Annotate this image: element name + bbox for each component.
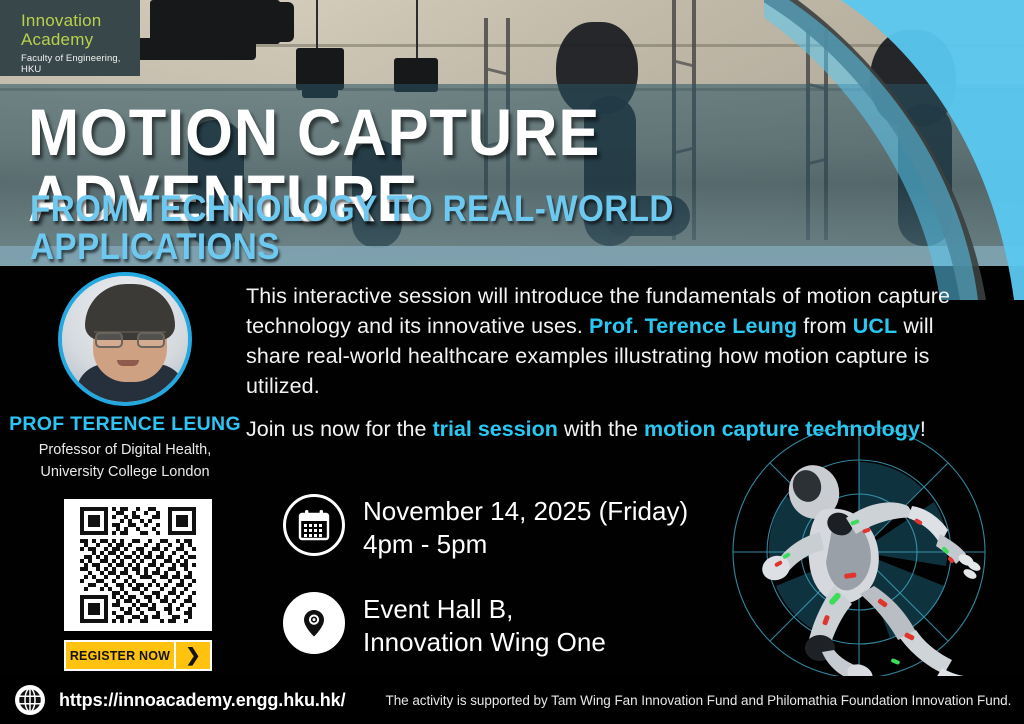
description-part-2: from (797, 314, 853, 338)
speaker-avatar (58, 272, 192, 406)
logo-line-1: Innovation (21, 11, 140, 30)
speaker-name: PROF TERENCE LEUNG (0, 413, 250, 436)
event-venue-row: Event Hall B, Innovation Wing One (283, 592, 606, 659)
venue-line-2: Innovation Wing One (363, 627, 606, 657)
event-date-row: November 14, 2025 (Friday) 4pm - 5pm (283, 494, 688, 561)
location-pin-icon (283, 592, 345, 654)
venue-line-1: Event Hall B, (363, 594, 513, 624)
cta-part-2: with the (558, 417, 644, 441)
event-poster: Innovation Academy Faculty of Engineerin… (0, 0, 1024, 724)
chevron-right-icon: ❯ (176, 642, 210, 669)
qr-code-image (72, 507, 204, 623)
event-venue-text: Event Hall B, Innovation Wing One (363, 592, 606, 659)
globe-icon (14, 684, 46, 716)
location-pin-icon-glyph (296, 605, 332, 641)
cta-highlight-mocap-tech: motion capture technology (644, 417, 920, 441)
event-date-text: November 14, 2025 (Friday) 4pm - 5pm (363, 494, 688, 561)
rig-wire (316, 0, 318, 52)
camera-mount (136, 38, 256, 60)
calendar-icon-glyph (297, 508, 331, 542)
radar-backdrop (733, 426, 985, 678)
call-to-action-paragraph: Join us now for the trial session with t… (246, 414, 970, 444)
description-highlight-speaker: Prof. Terence Leung (589, 314, 797, 338)
event-time: 4pm - 5pm (363, 529, 487, 559)
website-url[interactable]: https://innoacademy.engg.hku.hk/ (59, 690, 346, 711)
event-date: November 14, 2025 (Friday) (363, 496, 688, 526)
footer-bar: https://innoacademy.engg.hku.hk/ The act… (0, 676, 1024, 724)
running-humanoid-robot-graphic (694, 426, 1024, 698)
speaker-role-line-1: Professor of Digital Health, (39, 442, 211, 458)
robot-figure (759, 459, 982, 691)
avatar-glasses (94, 331, 166, 346)
avatar-mouth (117, 360, 139, 366)
logo-line-2: Academy (21, 30, 140, 49)
rig-wire (416, 0, 418, 62)
description-paragraph: This interactive session will introduce … (246, 281, 970, 401)
logo-subtitle: Faculty of Engineering, HKU (21, 53, 140, 75)
cta-part-3: ! (920, 417, 926, 441)
qr-code[interactable] (64, 499, 212, 631)
cta-part-1: Join us now for the (246, 417, 432, 441)
cta-highlight-trial-session: trial session (432, 417, 557, 441)
register-now-button[interactable]: REGISTER NOW ❯ (64, 640, 212, 671)
calendar-icon (283, 494, 345, 556)
register-button-label: REGISTER NOW (66, 642, 174, 669)
speaker-role: Professor of Digital Health, University … (0, 439, 250, 483)
camera-lens (238, 2, 294, 42)
description-highlight-ucl: UCL (853, 314, 898, 338)
innovation-academy-logo[interactable]: Innovation Academy Faculty of Engineerin… (0, 0, 140, 76)
speaker-role-line-2: University College London (40, 464, 209, 480)
robot-accent-lights (774, 518, 955, 665)
poster-subtitle: FROM TECHNOLOGY TO REAL-WORLD APPLICATIO… (30, 190, 894, 266)
funding-note: The activity is supported by Tam Wing Fa… (386, 693, 1012, 708)
